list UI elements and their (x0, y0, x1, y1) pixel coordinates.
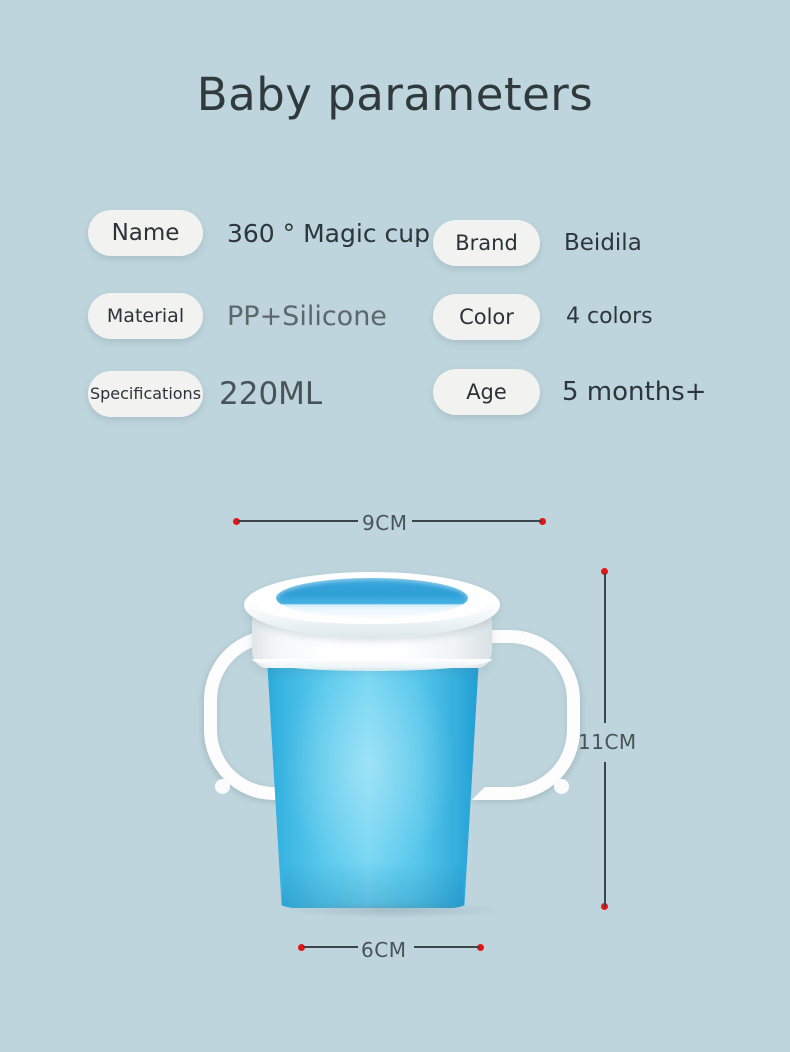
spec-label-pill-age: Age (433, 369, 540, 415)
spec-row-material: Material PP+Silicone (88, 293, 387, 339)
spec-label-pill-material: Material (88, 293, 203, 339)
spec-row-specifications: Specifications 220ML (88, 371, 322, 417)
spec-label-pill-specifications: Specifications (88, 371, 203, 417)
dimension-line-side (604, 573, 606, 723)
cup-ground-shadow (284, 902, 504, 918)
spec-value-age: 5 months+ (562, 379, 707, 405)
spec-value-color: 4 colors (566, 306, 653, 328)
spec-value-specifications: 220ML (219, 379, 322, 410)
spec-label-color: Color (459, 307, 514, 328)
spec-label-name: Name (112, 222, 180, 245)
spec-row-age: Age 5 months+ (433, 369, 707, 415)
spec-value-brand: Beidila (564, 232, 642, 255)
dimension-label-width-top: 9CM (362, 511, 407, 535)
dimension-line-side (604, 762, 606, 907)
spec-value-name: 360 ° Magic cup (227, 221, 430, 246)
cup-handle-tip (554, 779, 569, 794)
cup-handle-tip (215, 779, 230, 794)
page-title: Baby parameters (0, 68, 790, 121)
spec-table: Name 360 ° Magic cup Brand Beidila Mater… (0, 206, 790, 436)
dimension-label-width-bottom: 6CM (361, 938, 406, 962)
spec-row-name: Name 360 ° Magic cup (88, 210, 430, 256)
dimension-line-top (238, 520, 358, 522)
cup-body (256, 650, 490, 908)
cup-body-shading (256, 862, 490, 908)
spec-label-brand: Brand (455, 233, 518, 254)
spec-label-specifications: Specifications (90, 386, 201, 402)
spec-label-pill-brand: Brand (433, 220, 540, 266)
spec-label-pill-color: Color (433, 294, 540, 340)
product-image-sippy-cup (196, 558, 588, 918)
spec-label-material: Material (107, 307, 184, 326)
dimension-line-bottom (414, 946, 480, 948)
dimension-line-top (412, 520, 542, 522)
dimension-line-bottom (303, 946, 358, 948)
spec-row-color: Color 4 colors (433, 294, 653, 340)
spec-label-age: Age (466, 382, 507, 403)
spec-label-pill-name: Name (88, 210, 203, 256)
spec-row-brand: Brand Beidila (433, 220, 642, 266)
spec-value-material: PP+Silicone (227, 303, 387, 330)
